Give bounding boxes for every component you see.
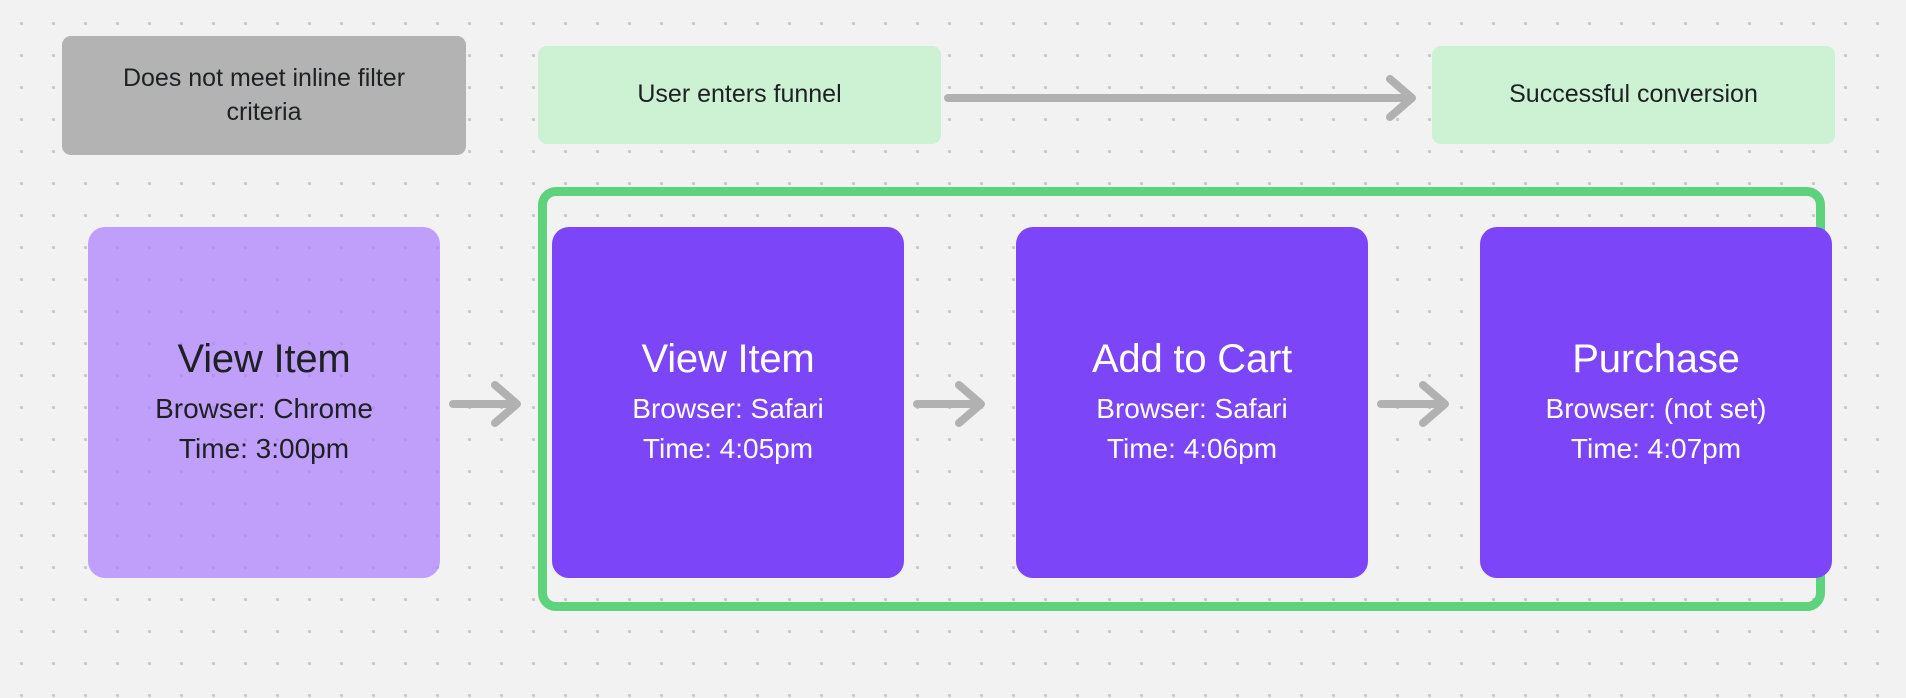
legend-successful-conversion-label: Successful conversion [1509, 78, 1758, 112]
legend-excluded-criteria: Does not meet inline filter criteria [62, 36, 466, 155]
event-card-excluded[interactable]: View Item Browser: Chrome Time: 3:00pm [88, 227, 440, 578]
funnel-step-time: Time: 4:05pm [643, 429, 813, 469]
legend-flow-arrow-icon [944, 74, 1428, 122]
flow-arrow-icon-1 [449, 380, 533, 428]
legend-successful-conversion: Successful conversion [1432, 46, 1835, 144]
diagram-canvas: Does not meet inline filter criteria Use… [0, 0, 1906, 698]
funnel-step-card-1[interactable]: View Item Browser: Safari Time: 4:05pm [552, 227, 904, 578]
funnel-step-browser: Browser: Safari [1096, 389, 1287, 429]
event-card-time: Time: 3:00pm [179, 429, 349, 469]
funnel-step-time: Time: 4:07pm [1571, 429, 1741, 469]
flow-arrow-icon-2 [913, 380, 997, 428]
flow-arrow-icon-3 [1377, 380, 1461, 428]
legend-user-enters-funnel: User enters funnel [538, 46, 941, 144]
legend-excluded-label: Does not meet inline filter criteria [88, 62, 440, 130]
funnel-step-card-3[interactable]: Purchase Browser: (not set) Time: 4:07pm [1480, 227, 1832, 578]
funnel-step-time: Time: 4:06pm [1107, 429, 1277, 469]
legend-user-enters-funnel-label: User enters funnel [637, 78, 841, 112]
funnel-step-title: Purchase [1572, 336, 1739, 382]
funnel-step-browser: Browser: Safari [632, 389, 823, 429]
funnel-step-title: View Item [641, 336, 814, 382]
funnel-step-card-2[interactable]: Add to Cart Browser: Safari Time: 4:06pm [1016, 227, 1368, 578]
event-card-title: View Item [177, 336, 350, 382]
funnel-step-browser: Browser: (not set) [1546, 389, 1767, 429]
event-card-browser: Browser: Chrome [155, 389, 373, 429]
funnel-step-title: Add to Cart [1092, 336, 1292, 382]
